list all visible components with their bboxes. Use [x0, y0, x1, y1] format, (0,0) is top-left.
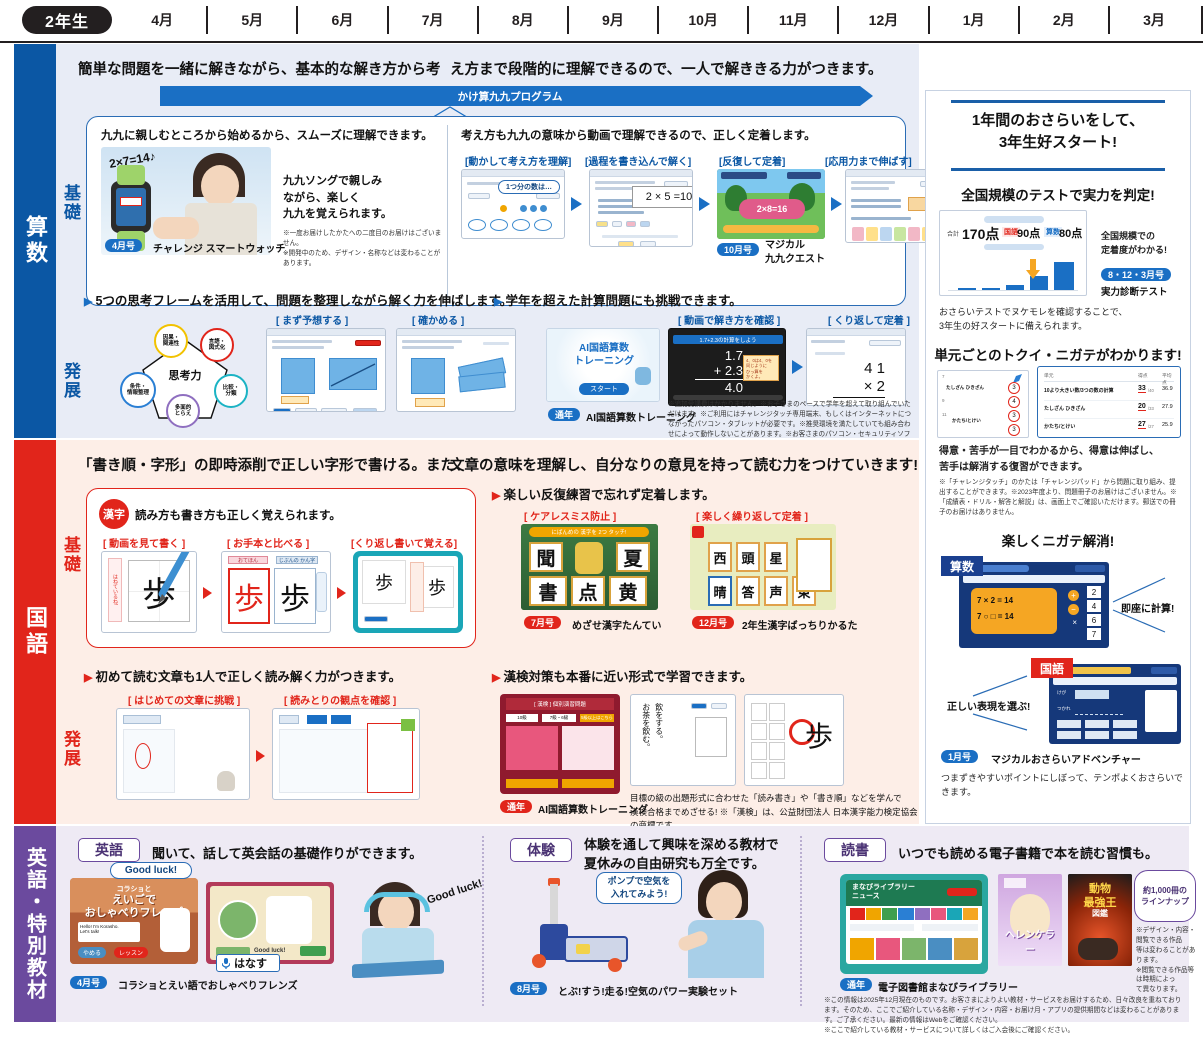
taiken-photo — [672, 868, 782, 978]
lineup-bubble: 約1,000冊の ラインナップ — [1134, 870, 1196, 922]
book1-title: ヘレンケラー — [1002, 926, 1058, 956]
speak-button[interactable]: はなす — [216, 954, 280, 972]
ai-training-card[interactable]: AI国語算数 トレーニング スタート — [546, 328, 660, 402]
repeat-problem: 4 1 × 2 — [833, 360, 885, 398]
rabbit-illustration — [217, 771, 235, 791]
video-player[interactable]: 1.7+2.3の計算をしよう 1.7 + 2.3 4.0 4、0は4、0を 同じ… — [668, 328, 786, 406]
row-avg: 36.9 — [1162, 386, 1173, 392]
dokusho-name: 電子図書館まなびライブラリー — [878, 979, 1018, 994]
row-avg: 25.9 — [1162, 422, 1173, 428]
jp-adv-bullet-right: 漢検対策も本番に近い形式で学習できます。 — [492, 666, 752, 685]
kanji-model: 歩 — [228, 568, 270, 624]
dokusho-head: いつでも読める電子書籍で本を読む習慣も。 — [898, 843, 1158, 862]
month-item: 12月 — [837, 6, 927, 34]
yours-label: じぶんの かん字 — [276, 556, 318, 564]
math-step-label-3: [反復して定着] — [719, 153, 785, 168]
monster-icon — [971, 588, 1057, 634]
math-step-label-1: [動かして考え方を理解] — [465, 153, 571, 168]
microphone-icon — [222, 958, 230, 969]
kanken-tab-2[interactable]: 5級以上はこちら — [580, 714, 614, 722]
section-english: 英語・特別教材 英語 聞いて、話して英会話の基礎作りができます。 コラショと え… — [0, 826, 1203, 1026]
kanji-compare-panel[interactable]: おてほん じぶんの かん字 歩 歩 — [221, 551, 331, 633]
ai-training-title: AI国語算数 トレーニング — [547, 343, 660, 368]
right-rail: 1年間のおさらいをして、 3年生好スタート! 全国規模のテストで実力を判定! 合… — [925, 44, 1191, 824]
math-adv-bullet-left: 5つの思考フレームを活用して、問題を整理しながら解く力を伸ばします。 — [84, 290, 512, 309]
eigo-app-screen[interactable]: コラショと えいごで おしゃべりフレンズ Hello! I'm Korasho.… — [70, 878, 198, 964]
step1-bubble: 1つ分の数は… — [498, 180, 560, 194]
month-item: 6月 — [296, 6, 386, 34]
pencil-icon — [152, 551, 197, 608]
row-score: 20 — [1138, 403, 1146, 411]
jp-advanced-label: 発展 — [58, 730, 83, 768]
eigo-app-sub: コラショと — [80, 884, 188, 894]
adventure-note: つまずきやすいポイントにしぼって、テンポよくおさらいできます。 — [941, 772, 1185, 800]
math-option-3[interactable]: 7 — [1087, 628, 1101, 640]
game1-kanji-0[interactable]: 聞 — [529, 542, 563, 572]
rail-section2-head: 単元ごとのトクイ・ニガテがわかります! — [925, 344, 1191, 364]
rail-rule-bottom — [951, 168, 1165, 171]
kanken-tab-1[interactable]: 7級・6級 — [542, 714, 576, 722]
score-total-label: 合計 — [947, 229, 959, 238]
kakezan-band: かけ算九九プログラム — [160, 86, 860, 106]
english-footnote: ※この情報は2025年12月現在のものです。お客さまによりよい教材・サービスをお… — [824, 996, 1184, 1036]
card-divider — [447, 125, 448, 297]
rank-3: 3 — [1008, 424, 1020, 436]
eigo-head: 聞いて、話して英会話の基礎作りができます。 — [152, 843, 422, 862]
rail-section1-head: 全国規模のテストで実力を判定! — [925, 184, 1191, 204]
rail-rule-top — [951, 100, 1165, 103]
math-adv-panel-label-1: [ まず予想する ] — [276, 312, 348, 327]
kanken-tab-0[interactable]: 10級 — [506, 714, 538, 722]
adventure-name: マジカルおさらいアドベンチャー — [991, 751, 1141, 766]
table-header-avg: 平均点 — [1162, 372, 1174, 386]
kanji-write-panel[interactable]: はねているね! 歩 — [101, 551, 197, 633]
game2-kanji-2[interactable]: 星 — [764, 542, 788, 572]
step2-formula: 2 × 5 =10 — [632, 186, 693, 208]
math-caption-leaders-icon — [1111, 576, 1177, 634]
frame-label-3: 多面的 とらえ — [166, 394, 200, 428]
step-arrow-3-icon — [831, 197, 842, 211]
unit-table: 単元 得点 平均点 10より大きい数/3つの数の計算 33 /40 36.9 た… — [1037, 366, 1181, 438]
score-caption: 全国規模での 定着度がわかる! — [1101, 230, 1187, 258]
row-score: 33 — [1138, 385, 1146, 393]
jp-game-tag: 国語 — [1031, 658, 1073, 678]
kanji-step-label-3: [くり返し書いて覚える] — [351, 535, 457, 550]
times-icon[interactable]: × — [1072, 618, 1077, 627]
tablet-kanji-2: 歩 — [420, 566, 454, 608]
game1-name: めざせ漢字たんてい — [572, 617, 662, 632]
math-option-1[interactable]: 4 — [1087, 600, 1101, 612]
table-header-score: 得点 — [1138, 372, 1148, 379]
japanese-subject-tab: 国語 — [14, 440, 56, 824]
kanken-circle-panel[interactable]: 歩 — [744, 694, 844, 786]
repeat-problem-line2: × 2 — [833, 378, 885, 398]
jp-adv-panel-label-2: [ 読みとりの観点を確認 ] — [284, 692, 396, 707]
kanji-badge: 漢字 — [99, 499, 129, 529]
video-to-repeat-arrow-icon — [792, 360, 803, 374]
eigo-lesson-button[interactable]: レッスン — [114, 947, 148, 958]
watch-month-badge: 4月号 — [105, 239, 142, 252]
jp-lead-right: 文章の意味を理解し、自分なりの意見を持って読む力をつけていきます! — [450, 454, 918, 475]
kanken-kanji: 歩 — [805, 715, 833, 755]
row-unit: たしざん ひきざん — [1044, 405, 1085, 412]
rank-2: 3 — [1008, 410, 1020, 422]
math-adv-panel-label-2: [ 確かめる ] — [412, 312, 464, 327]
math-step-label-4: [応用力まで伸ばす] — [825, 153, 912, 168]
dokusho-badge: 通年 — [840, 978, 872, 991]
library-tablet[interactable]: まなびライブラリー ニュース — [840, 874, 988, 974]
video-title: 1.7+2.3の計算をしよう — [673, 335, 783, 344]
math-lead-left: 簡単な問題を一緒に解きながら、基本的な解き方から考 — [78, 58, 441, 79]
month-item: 7月 — [387, 6, 477, 34]
ai-badge-jp: 通年 — [500, 800, 532, 813]
dokusho-note: ※デザイン・内容・閲覧できる作品 等は変わることがあります。 ※閲覧できる作品等… — [1136, 926, 1198, 995]
month-item: 11月 — [747, 6, 837, 34]
book2-line3: 図鑑 — [1068, 908, 1132, 919]
frame-center-label: 思考力 — [156, 367, 214, 383]
english-subject-tab: 英語・特別教材 — [14, 826, 56, 1022]
math-step2-screenshot[interactable]: 2 × 5 =10 — [589, 169, 693, 247]
score-report-tile[interactable]: 合計 170点 国語 90点 算数 80点 — [939, 210, 1087, 296]
game2-kanji-3[interactable]: 晴 — [708, 576, 732, 606]
jp-game-label-1: [ ケアレスミス防止 ] — [524, 508, 616, 523]
rail-section2-note: 得意・苦手が一目でわかるから、得意は伸ばし、 苦手は解消する復習ができます。 — [939, 444, 1185, 476]
game1-banner: にばんめの 漢字を 2つ タッチ! — [529, 527, 649, 537]
game1-kanji-2[interactable]: 書 — [529, 576, 567, 606]
math-basic-right-head: 考え方も九九の意味から動画で理解できるので、正しく定着します。 — [461, 127, 816, 143]
step-arrow-2-icon — [699, 197, 710, 211]
kanji-game-1[interactable]: にばんめの 漢字を 2つ タッチ! 聞 夏 書 点 黄 — [521, 524, 658, 610]
frame-label-2: 比較・ 分類 — [214, 374, 248, 408]
month-item: 10月 — [657, 6, 747, 34]
game2-kanji-5[interactable]: 声 — [764, 576, 788, 606]
game1-kanji-4[interactable]: 黄 — [609, 576, 647, 606]
math-game-q1: 7 × 2 = 14 — [977, 596, 1013, 605]
headphones-icon — [364, 892, 430, 912]
math-step3-game[interactable]: 2×8=16 — [717, 169, 825, 239]
kanken-writing-panel[interactable]: 飲をする。 お茶を飲む。 — [630, 694, 736, 786]
kanji-yours: 歩 — [274, 568, 316, 624]
speak-label: はなす — [234, 955, 267, 971]
math-adv-bullet-right: 学年を超えた計算問題にも挑戦できます。 — [494, 290, 742, 309]
score-kokugo: 90点 — [1017, 225, 1040, 241]
taiken-tag: 体験 — [510, 838, 572, 862]
rank-1: 4 — [1008, 396, 1020, 408]
row-max: /33 — [1148, 406, 1154, 411]
grade-pill: 2年生 — [22, 6, 112, 34]
month-item: 2月 — [1018, 6, 1108, 34]
math-adv-panel-1[interactable] — [266, 328, 386, 412]
table-row: 10より大きい数/3つの数の計算 33 /40 36.9 — [1044, 385, 1174, 401]
frame-label-4: 条件・ 情報整理 — [120, 372, 156, 408]
kanji-arrow-1-icon — [203, 587, 212, 599]
month-header: 2年生 4月 5月 6月 7月 8月 9月 10月 11月 12月 1月 2月 … — [0, 0, 1203, 42]
game2-card-panel — [796, 538, 832, 592]
eigo-goodluck-bubble: Good luck! — [110, 862, 192, 879]
taiken-name: とぶ!すう!走る!空気のパワー実験セット — [558, 983, 738, 998]
math-step-label-2: [過程を書き込んで解く] — [585, 153, 691, 168]
math-step1-screenshot[interactable]: 1つ分の数は… — [461, 169, 565, 239]
kanken-panel[interactable]: [ 漢検 ] 個別演習問題 10級 7級・6級 5級以上はこちら — [500, 694, 620, 794]
jp-reading-arrow-icon — [256, 750, 265, 762]
kanji-side-button[interactable] — [316, 572, 327, 612]
eng-divider-2 — [800, 836, 802, 1006]
kuku-quest-name: マジカル 九九クエスト — [765, 239, 825, 266]
curriculum-page: 2年生 4月 5月 6月 7月 8月 9月 10月 11月 12月 1月 2月 … — [0, 0, 1203, 1044]
kanji-card: 漢字 読み方も書き方も正しく覚えられます。 [ 動画を見て書く ] [ お手本と… — [86, 488, 476, 648]
rail-section1-note: おさらいテストでヌケモレを確認することで、 3年生の好スタートに備えられます。 — [939, 306, 1179, 334]
repeat-fix-label: [ くり返して定着 ] — [828, 312, 910, 327]
jp-caption-leaders-icon — [943, 674, 1039, 732]
eigo-badge: 4月号 — [70, 976, 107, 989]
game1-kanji-1[interactable]: 夏 — [616, 542, 650, 572]
reading-circle-mark — [135, 743, 151, 769]
table-header-unit: 単元 — [1044, 372, 1054, 379]
video-problem-line1: 1.7 — [695, 349, 743, 364]
dokusho-tag: 読書 — [824, 838, 886, 862]
video-problem-line3: 4.0 — [695, 379, 743, 396]
math-game-tag: 算数 — [941, 556, 983, 576]
eigo-tag: 英語 — [78, 838, 140, 862]
eng-divider-1 — [482, 836, 484, 1006]
video-check-label: [ 動画で解き方を確認 ] — [678, 312, 780, 327]
kanji-game-2[interactable]: 西 頭 星 晴 答 声 東 — [690, 524, 836, 610]
month-item: 1月 — [928, 6, 1018, 34]
math-advanced-label: 発展 — [58, 362, 83, 400]
eigo-dialog: Hello! I'm Korasho. Let's talk! — [78, 922, 140, 942]
book-cover-1: ヘレンケラー — [998, 874, 1062, 966]
ai-training-badge-math: 通年 — [548, 408, 580, 421]
header-divider — [0, 41, 1203, 43]
step-arrow-1-icon — [571, 197, 582, 211]
jp-game-character — [1145, 690, 1177, 732]
minus-icon[interactable]: − — [1068, 604, 1079, 615]
rail-section2-fine: ※「チャレンジタッチ」のかたは「チャレンジパッド」から問題に取り組み、提出するこ… — [939, 478, 1181, 518]
plus-icon[interactable]: + — [1068, 590, 1079, 601]
math-lead-right: え方まで段階的に理解できるので、一人で解ききる力がつきます。 — [450, 58, 882, 79]
taiken-bubble: ポンプで空気を 入れてみよう! — [596, 872, 682, 904]
score-total: 170点 — [962, 224, 999, 244]
video-problem: 1.7 + 2.3 4.0 — [695, 349, 743, 396]
month-item: 3月 — [1108, 6, 1198, 34]
jp-basic-bullet-right: 楽しい反復練習で忘れず定着します。 — [492, 484, 715, 503]
writing-sample: 飲をする。 お茶を飲む。 — [639, 703, 665, 773]
kanken-title: [ 漢検 ] 個別演習問題 — [506, 698, 614, 710]
kanji-arrow-2-icon — [337, 587, 346, 599]
score-arrow-icon — [1026, 259, 1040, 279]
frame-label-0: 因果・ 関連性 — [154, 324, 188, 358]
game2-kanji-4[interactable]: 答 — [736, 576, 760, 606]
watch-body-icon — [111, 181, 151, 233]
watch-product-name: チャレンジ スマートウォッチ — [153, 240, 285, 255]
row-max: /40 — [1148, 388, 1154, 393]
kanji-tablet[interactable]: 歩 歩 — [353, 551, 463, 633]
repeat-problem-line1: 4 1 — [833, 360, 885, 378]
jp-adv-bullet-left: 初めて読む文章も1人で正しく読み解く力がつきます。 — [84, 666, 401, 685]
math-option-2[interactable]: 6 — [1087, 614, 1101, 626]
jp-adv-panel-label-1: [ はじめての文章に挑戦 ] — [128, 692, 240, 707]
rail-section3-head: 楽しくニガテ解消! — [925, 530, 1191, 550]
kuku-song-text: 九九ソングで親しみ ながら、楽しく 九九を覚えられます。 — [283, 173, 443, 223]
table-row: かたち/とけい 27 /27 25.9 — [1044, 421, 1174, 437]
jp-game-label-2: [ 楽しく繰り返して定着 ] — [696, 508, 808, 523]
game-formula: 2×8=16 — [739, 199, 805, 219]
chicken-mascot-icon — [266, 896, 312, 944]
repeat-panel[interactable]: 4 1 × 2 — [806, 328, 906, 406]
game2-kanji-0[interactable]: 西 — [708, 542, 732, 572]
robot-mascot-icon — [635, 367, 651, 385]
rank-tile[interactable]: 7 たしざん ひきざん 3 9 4 11 かたち/とけい 3 3 — [937, 370, 1029, 438]
math-basic-card: 九九に親しむところから始めるから、スムーズに理解できます。 考え方も九九の意味か… — [86, 116, 906, 306]
month-item: 4月 — [118, 6, 206, 34]
adventure-badge: 1月号 — [941, 750, 978, 763]
video-note: 4、0は4、0を 同じように ひっ算を かくよ。 — [743, 355, 779, 381]
model-label: おてほん — [228, 556, 268, 564]
tablet-kanji-1: 歩 — [362, 560, 406, 604]
game1-character-icon — [575, 542, 603, 574]
kanji-step-label-2: [ お手本と比べる ] — [227, 535, 309, 550]
row-max: /27 — [1148, 424, 1154, 429]
game2-badge: 12月号 — [692, 616, 734, 629]
score-sansu: 80点 — [1059, 225, 1082, 241]
game1-kanji-3[interactable]: 点 — [571, 576, 605, 606]
month-item: 8月 — [477, 6, 567, 34]
video-problem-line2: + 2.3 — [695, 364, 743, 379]
math-adv-panel-2[interactable] — [396, 328, 516, 412]
ai-start-button[interactable]: スタート — [579, 383, 629, 395]
row-unit: 10より大きい数/3つの数の計算 — [1044, 387, 1114, 394]
thinking-frame-diagram: 思考力 因果・ 関連性 言語・ 図式化 比較・ 分類 多面的 とらえ 条件・ 情… — [110, 312, 260, 430]
kanji-hint: はねているね! — [108, 558, 122, 622]
game2-kanji-1[interactable]: 頭 — [736, 542, 760, 572]
math-game-q2: 7 ○ □ = 14 — [977, 612, 1014, 621]
frame-label-1: 言語・ 図式化 — [200, 328, 234, 362]
kanji-step-label-1: [ 動画を見て書く ] — [103, 535, 185, 550]
game1-badge: 7月号 — [524, 616, 561, 629]
row-unit: かたち/とけい — [1044, 423, 1075, 430]
taiken-badge: 8月号 — [510, 982, 547, 995]
library-title: まなびライブラリー ニュース — [852, 884, 915, 902]
book-cover-2: 動物 最強王 図鑑 — [1068, 874, 1132, 966]
month-item: 5月 — [206, 6, 296, 34]
kanji-head: 読み方も書き方も正しく覚えられます。 — [135, 507, 341, 523]
math-basic-left-head: 九九に親しむところから始めるから、スムーズに理解できます。 — [101, 127, 433, 143]
math-basic-label: 基礎 — [58, 184, 83, 222]
month-item: 9月 — [567, 6, 657, 34]
math-option-0[interactable]: 2 — [1087, 586, 1101, 598]
table-row: たしざん ひきざん 20 /33 27.9 — [1044, 403, 1174, 419]
math-subject-tab: 算数 — [14, 44, 56, 438]
game2-name: 2年生漢字ばっちりかるた — [742, 617, 858, 632]
rank-0: 3 — [1008, 382, 1020, 394]
test-name: 実力診断テスト — [1101, 284, 1168, 298]
eigo-quit-button[interactable]: やめる — [78, 947, 106, 958]
eigo-lesson-screen[interactable]: Good luck! — [206, 882, 334, 964]
eigo-name: コラショとえい語でおしゃべりフレンズ — [118, 977, 298, 992]
test-badge: 8・12・3月号 — [1101, 268, 1171, 281]
row-score: 27 — [1138, 421, 1146, 429]
jp-basic-label: 基礎 — [58, 536, 83, 574]
rail-title: 1年間のおさらいをして、 3年生好スタート! — [943, 110, 1173, 154]
kuku-quest-badge: 10月号 — [717, 243, 759, 256]
jp-lead-left: 「書き順・字形」の即時添削で正しい字形で書ける。また、 — [78, 454, 470, 475]
month-list: 4月 5月 6月 7月 8月 9月 10月 11月 12月 1月 2月 3月 — [118, 6, 1198, 34]
row-avg: 27.9 — [1162, 404, 1173, 410]
korasho-mascot-icon — [160, 908, 190, 952]
watch-note: ※一度お届けしたかたへの二度目のお届けはございません。 ※開発中のため、デザイン… — [283, 229, 445, 269]
jp-reading-panel-2[interactable] — [272, 708, 420, 800]
jp-reading-panel-1[interactable] — [116, 708, 250, 800]
